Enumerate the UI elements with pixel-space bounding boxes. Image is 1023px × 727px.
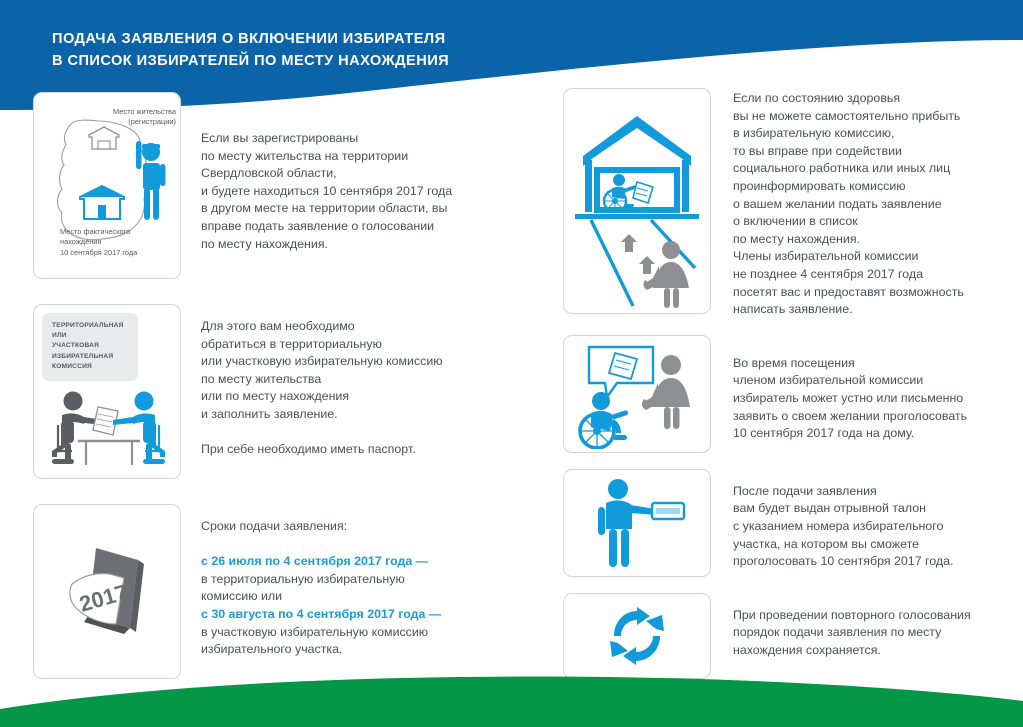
text-line: участка, на котором вы сможете [733,536,953,554]
right-block-ticket: После подачи заявления вам будет выдан о… [563,469,1013,577]
text-deadlines: Сроки подачи заявления: с 26 июля по 4 с… [181,504,441,659]
left-block-residence: Место жительства (регистрации) Место фак… [33,92,533,279]
left-block-deadlines: 2017 Сроки подачи заявления: с 26 июля п… [33,504,533,679]
right-block-home-visit: Если по состоянию здоровья вы не можете … [563,88,1013,319]
card-ticket [563,469,711,577]
text-line: После подачи заявления [733,483,953,501]
text-line: по месту жительства на территории [201,148,452,166]
page-title: ПОДАЧА ЗАЯВЛЕНИЯ О ВКЛЮЧЕНИИ ИЗБИРАТЕЛЯ … [52,28,692,72]
person-blue-icon [136,141,166,220]
text-line: по месту жительства [201,371,443,389]
text-line: в участковую избирательную комиссию [201,624,441,642]
map-label-actual-line3: 10 сентября 2017 года [60,248,170,258]
gray-house-icon [89,127,119,149]
text-line: 10 сентября 2017 года на дому. [733,425,967,443]
right-block-repeat-voting: При проведении повторного голосования по… [563,593,1013,679]
text-line: нахождения сохраняется. [733,642,971,660]
deadlines-heading: Сроки подачи заявления: [201,518,441,536]
right-block-visit-declaration: Во время посещения членом избирательной … [563,335,1013,453]
coupon-icon [652,503,684,519]
calendar-2017-icon: 2017 [52,532,162,652]
arrow-up-icon [639,256,655,274]
text-line: вы не можете самостоятельно прибыть [733,108,964,126]
infographic-page: ПОДАЧА ЗАЯВЛЕНИЯ О ВКЛЮЧЕНИИ ИЗБИРАТЕЛЯ … [0,0,1023,727]
text-line: Члены избирательной комиссии [733,248,964,266]
text-line: избирательного участка. [201,641,441,659]
text-line: обратиться в территориальную [201,336,443,354]
person-gray-woman-icon [643,241,689,308]
text-line: по месту нахождения. [733,231,964,249]
text-line: о включении в список [733,213,964,231]
card-home-visit [563,88,711,314]
card-commission: ТЕРРИТОРИАЛЬНАЯ ИЛИ УЧАСТКОВАЯ ИЗБИРАТЕЛ… [33,304,181,479]
text-line: Если по состоянию здоровья [733,90,964,108]
speech-bubble-icon [589,347,653,397]
text-line: и заполнить заявление. [201,406,443,424]
text-line: избиратель может устно или письменно [733,390,967,408]
map-label-residence-line2: (регистрации) [72,117,176,127]
text-line: проголосовать 10 сентября 2017 года. [733,553,953,571]
left-column: Место жительства (регистрации) Место фак… [33,92,533,679]
map-label-actual-line2: нахождения [60,237,170,247]
text-line: или участковую избирательную комиссию [201,353,443,371]
text-line: членом избирательной комиссии [733,372,967,390]
blue-house-icon [80,186,124,219]
text-line: Во время посещения [733,355,967,373]
left-block-commission: ТЕРРИТОРИАЛЬНАЯ ИЛИ УЧАСТКОВАЯ ИЗБИРАТЕЛ… [33,304,533,479]
text-line: или по месту нахождения [201,388,443,406]
map-label-residence: Место жительства (регистрации) [72,107,176,128]
commission-sign: ТЕРРИТОРИАЛЬНАЯ ИЛИ УЧАСТКОВАЯ ИЗБИРАТЕЛ… [42,313,138,381]
spacer [201,536,441,554]
sign-line: ИЗБИРАТЕЛЬНАЯ [52,352,130,362]
right-column: Если по состоянию здоровья вы не можете … [563,88,1013,679]
document-icon [633,182,653,203]
page-title-line2: В СПИСОК ИЗБИРАТЕЛЕЙ ПО МЕСТУ НАХОЖДЕНИЯ [52,50,692,72]
text-line: социального работника или иных лиц [733,160,964,178]
text-line: посетят вас и предоставят возможность [733,284,964,302]
person-blue-seated-icon [113,392,165,465]
text-visit-declaration: Во время посещения членом избирательной … [711,335,967,443]
text-commission: Для этого вам необходимо обратиться в те… [181,304,443,459]
sign-line: ТЕРРИТОРИАЛЬНАЯ [52,321,130,331]
text-line: порядок подачи заявления по месту [733,624,971,642]
text-line: по месту нахождения. [201,236,452,254]
wheelchair-person-icon [580,392,629,448]
footer-wave-background [0,667,1023,727]
card-visit-declaration [563,335,711,453]
text-home-visit: Если по состоянию здоровья вы не можете … [711,88,964,319]
commission-desk-icon: ТЕРРИТОРИАЛЬНАЯ ИЛИ УЧАСТКОВАЯ ИЗБИРАТЕЛ… [34,305,180,478]
text-line: заявить о своем желании проголосовать [733,408,967,426]
text-line: комиссию или [201,588,441,606]
map-residence-icon: Место жительства (регистрации) Место фак… [34,93,180,278]
sign-line: УЧАСТКОВАЯ [52,341,130,351]
deadline-2-label: с 30 августа по 4 сентября 2017 года — [201,606,441,624]
text-ticket: После подачи заявления вам будет выдан о… [711,469,953,571]
card-map-residence: Место жительства (регистрации) Место фак… [33,92,181,279]
spacer [201,424,443,442]
map-label-actual-line1: Место фактического [60,227,170,237]
text-line: о вашем желании подать заявление [733,196,964,214]
deadline-1-label: с 26 июля по 4 сентября 2017 года — [201,553,441,571]
desk-figures-svg [48,387,168,471]
arrow-up-icon [621,234,637,252]
text-line: с указанием номера избирательного [733,518,953,536]
text-line: в избирательную комиссию, [733,125,964,143]
text-line: вправе подать заявление о голосовании [201,218,452,236]
text-line: При себе необходимо иметь паспорт. [201,441,443,459]
wheelchair-speech-bubble-icon [567,339,707,449]
text-repeat-voting: При проведении повторного голосования по… [711,593,971,660]
text-line: написать заявление. [733,301,964,319]
sign-line: ИЛИ [52,331,130,341]
text-residence: Если вы зарегистрированы по месту житель… [181,92,452,253]
person-ticket-icon [582,475,692,571]
text-line: и будете находиться 10 сентября 2017 год… [201,183,452,201]
page-title-line1: ПОДАЧА ЗАЯВЛЕНИЯ О ВКЛЮЧЕНИИ ИЗБИРАТЕЛЯ [52,28,692,50]
recycle-repeat-icon [606,605,668,667]
text-line: вам будет выдан отрывной талон [733,500,953,518]
text-line: При проведении повторного голосования [733,607,971,625]
map-label-residence-line1: Место жительства [72,107,176,117]
text-line: Для этого вам необходимо [201,318,443,336]
text-line: Свердловской области, [201,165,452,183]
sign-line: КОМИССИЯ [52,362,130,372]
map-label-actual: Место фактического нахождения 10 сентябр… [60,227,170,258]
text-line: Если вы зарегистрированы [201,130,452,148]
text-line: в другом месте на территории области, вы [201,200,452,218]
text-line: в территориальную избирательную [201,571,441,589]
card-calendar: 2017 [33,504,181,679]
text-line: не позднее 4 сентября 2017 года [733,266,964,284]
card-repeat-voting [563,593,711,679]
text-line: проинформировать комиссию [733,178,964,196]
wheelchair-person-icon [604,174,637,212]
home-visit-wheelchair-icon [567,92,707,310]
text-line: то вы вправе при содействии [733,143,964,161]
